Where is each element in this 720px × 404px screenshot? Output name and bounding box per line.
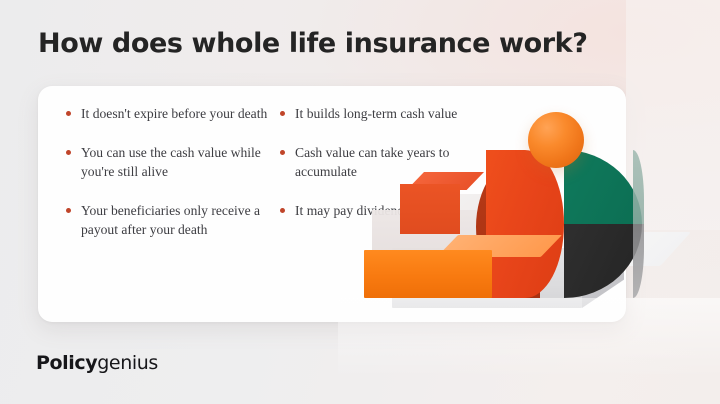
slide-canvas: How does whole life insurance work? It d… [0, 0, 720, 404]
bullet-dot-icon [66, 111, 71, 116]
list-item-label: It builds long-term cash value [295, 104, 498, 124]
list-item: You can use the cash value while you're … [64, 143, 290, 182]
leaf-orange [486, 150, 564, 298]
illustration-3d-logo [398, 148, 720, 404]
bullet-column-left: It doesn't expire before your death You … [64, 104, 290, 240]
brand-logo-light: genius [97, 352, 158, 374]
list-item-label: Your beneficiaries only receive a payout… [81, 201, 290, 240]
block-orangered-face [400, 184, 460, 234]
bullet-dot-icon [280, 150, 285, 155]
floor-reflection [338, 298, 720, 378]
quarter-circle-dark-edge [633, 224, 644, 298]
bullet-dot-icon [66, 208, 71, 213]
bullet-dot-icon [280, 208, 285, 213]
quarter-circle-dark [564, 224, 642, 298]
brand-logo-bold: Policy [36, 352, 97, 374]
bullet-dot-icon [280, 111, 285, 116]
list-item: It doesn't expire before your death [64, 104, 290, 124]
list-item: Your beneficiaries only receive a payout… [64, 201, 290, 240]
page-title: How does whole life insurance work? [38, 28, 587, 59]
sphere-orange-icon [528, 112, 584, 168]
list-item-label: You can use the cash value while you're … [81, 143, 290, 182]
platform-orange-face [364, 250, 492, 298]
list-item-label: It doesn't expire before your death [81, 104, 290, 124]
bullet-dot-icon [66, 150, 71, 155]
list-item: It builds long-term cash value [278, 104, 498, 124]
brand-logo: Policygenius [36, 352, 158, 374]
